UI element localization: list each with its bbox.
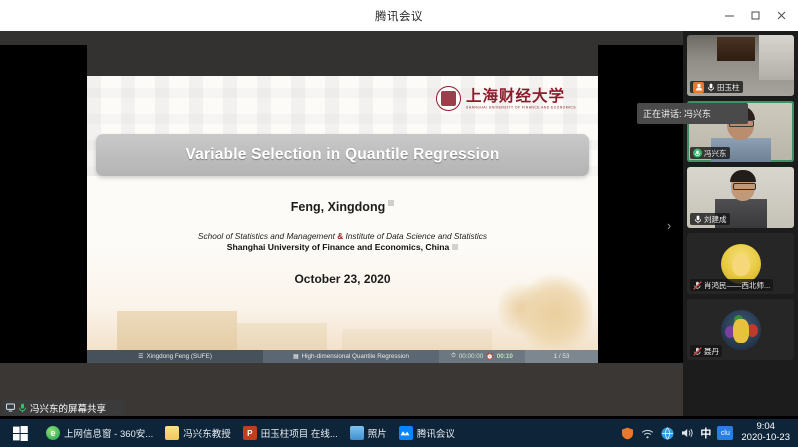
presenter-icon: ☰ xyxy=(138,353,143,360)
timer-icon: ⏰ xyxy=(486,353,493,360)
slide-author: Feng, Xingdong xyxy=(87,200,598,214)
screen-share-banner[interactable]: 冯兴东的屏幕共享 xyxy=(2,400,124,415)
participant-tile-liujiancheng[interactable]: 刘建成 xyxy=(687,167,794,228)
participant-nametag: 刘建成 xyxy=(690,213,730,225)
taskbar-item-label: 冯兴东教授 xyxy=(183,426,231,440)
taskbar-item-label: 上网信息窗 - 360安... xyxy=(64,426,153,440)
window-title-bar: 腾讯会议 xyxy=(0,0,798,32)
ime-toolbar-badge[interactable]: clu xyxy=(717,426,733,440)
participant-nametag: 田玉柱 xyxy=(690,81,743,93)
slide-footer: ☰ Xingdong Feng (SUFE) ▦ High-dimensiona… xyxy=(87,350,598,363)
slide-title-plate: Variable Selection in Quantile Regressio… xyxy=(96,134,589,176)
clock-date: 2020-10-23 xyxy=(741,433,790,444)
slide-title: Variable Selection in Quantile Regressio… xyxy=(186,146,500,164)
microphone-icon xyxy=(706,82,715,92)
system-tray[interactable]: 中 clu 9:04 2020-10-23 xyxy=(620,419,798,447)
campus-photo-watermark xyxy=(87,243,598,363)
microphone-icon xyxy=(18,403,27,413)
participant-nametag: 聂丹 xyxy=(690,345,722,357)
taskbar-item-tencent-meeting[interactable]: 腾讯会议 xyxy=(393,419,461,447)
slide-affiliation-line-1: School of Statistics and Management & In… xyxy=(87,231,598,241)
university-name-en: SHANGHAI UNIVERSITY OF FINANCE AND ECONO… xyxy=(466,106,576,110)
microphone-muted-icon xyxy=(693,280,702,290)
participants-strip[interactable]: 田玉柱 冯兴东 刘建成 xyxy=(683,31,798,416)
slide-footer-page: 1 / 53 xyxy=(525,350,598,363)
letterbox-right xyxy=(598,45,683,363)
university-crest-icon xyxy=(436,86,461,111)
windows-start-icon[interactable] xyxy=(0,419,40,447)
microphone-icon xyxy=(693,214,702,224)
taskbar-item-label: 照片 xyxy=(368,426,387,440)
screen-share-label: 冯兴东的屏幕共享 xyxy=(30,401,106,415)
participant-name: 刘建成 xyxy=(704,214,727,225)
maximize-icon[interactable] xyxy=(742,0,768,31)
university-logo: 上海财经大学 SHANGHAI UNIVERSITY OF FINANCE AN… xyxy=(436,86,576,111)
slide-date: October 23, 2020 xyxy=(87,272,598,286)
taskbar-item-folder[interactable]: 冯兴东教授 xyxy=(159,419,237,447)
photos-icon xyxy=(350,426,364,440)
taskbar-item-label: 腾讯会议 xyxy=(417,426,455,440)
taskbar[interactable]: e 上网信息窗 - 360安... 冯兴东教授 P 田玉柱项目 在线... 照片… xyxy=(0,419,798,447)
speaking-tooltip: 正在讲话: 冯兴东 xyxy=(637,103,748,124)
tencent-meeting-icon xyxy=(399,426,413,440)
clock-icon: ⏱ xyxy=(451,353,456,360)
shared-screen-top-band xyxy=(0,31,683,76)
network-icon[interactable] xyxy=(660,426,674,440)
taskbar-item-browser[interactable]: e 上网信息窗 - 360安... xyxy=(40,419,159,447)
university-name-cn: 上海财经大学 xyxy=(466,88,576,104)
security-shield-icon[interactable] xyxy=(620,426,634,440)
chevron-right-icon[interactable]: › xyxy=(664,217,674,235)
participant-tile-xiaohongmin[interactable]: 肖鸿民——西北师... xyxy=(687,233,794,294)
folder-icon xyxy=(165,426,179,440)
participant-nametag: 冯兴东 xyxy=(690,147,730,159)
wifi-icon[interactable] xyxy=(640,426,654,440)
host-badge-icon xyxy=(693,82,704,93)
taskbar-item-photos[interactable]: 照片 xyxy=(344,419,393,447)
avatar xyxy=(721,310,761,350)
browser-icon: e xyxy=(46,426,60,440)
letterbox-left xyxy=(0,45,87,363)
powerpoint-icon: P xyxy=(243,426,257,440)
participant-name: 田玉柱 xyxy=(717,82,740,93)
slide-footer-topic: ▦ High-dimensional Quantile Regression xyxy=(263,350,439,363)
participant-tile-niedan[interactable]: 聂丹 xyxy=(687,299,794,360)
window-controls xyxy=(716,0,794,31)
book-icon: ▦ xyxy=(293,353,299,360)
presentation-slide: 上海财经大学 SHANGHAI UNIVERSITY OF FINANCE AN… xyxy=(87,76,598,363)
affiliation-footnote-mark xyxy=(452,244,458,250)
taskbar-item-label: 田玉柱项目 在线... xyxy=(261,426,338,440)
speaking-tooltip-label: 正在讲话: 冯兴东 xyxy=(643,107,711,120)
participant-name: 聂丹 xyxy=(704,346,719,357)
participant-tile-tianyuzhu[interactable]: 田玉柱 xyxy=(687,35,794,96)
avatar xyxy=(721,244,761,284)
taskbar-item-powerpoint[interactable]: P 田玉柱项目 在线... xyxy=(237,419,344,447)
clock[interactable]: 9:04 2020-10-23 xyxy=(739,422,792,444)
ime-indicator[interactable]: 中 xyxy=(700,425,711,441)
author-footnote-mark xyxy=(388,200,394,206)
participant-nametag: 肖鸿民——西北师... xyxy=(690,279,773,291)
microphone-active-icon xyxy=(693,148,702,158)
meeting-window: 上海财经大学 SHANGHAI UNIVERSITY OF FINANCE AN… xyxy=(0,31,798,416)
slide-affiliation-line-2: Shanghai University of Finance and Econo… xyxy=(87,242,598,252)
close-icon[interactable] xyxy=(768,0,794,31)
microphone-muted-icon xyxy=(693,346,702,356)
shared-screen-area[interactable]: 上海财经大学 SHANGHAI UNIVERSITY OF FINANCE AN… xyxy=(0,31,683,416)
slide-footer-timers: ⏱ 00:00:00 ⏰ 00:10 xyxy=(439,350,525,363)
minimize-icon[interactable] xyxy=(716,0,742,31)
participant-name: 冯兴东 xyxy=(704,148,727,159)
screen-share-icon xyxy=(6,403,15,413)
slide-footer-author: ☰ Xingdong Feng (SUFE) xyxy=(87,350,263,363)
volume-icon[interactable] xyxy=(680,426,694,440)
participant-name: 肖鸿民——西北师... xyxy=(704,280,770,291)
window-title: 腾讯会议 xyxy=(375,8,423,24)
